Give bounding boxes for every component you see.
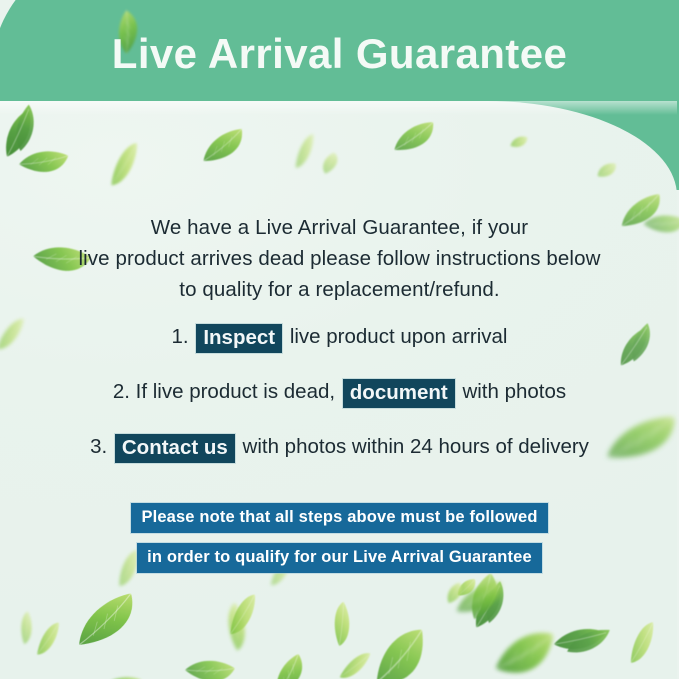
instruction-step-3: 3. Contact us with photos within 24 hour…	[0, 432, 679, 463]
intro-line-3: to quality for a replacement/refund.	[0, 274, 679, 305]
poster-content: Live Arrival Guarantee We have a Live Ar…	[0, 0, 679, 679]
step-3-text: with photos within 24 hours of delivery	[243, 435, 589, 458]
instruction-step-2: 2. If live product is dead, document wit…	[0, 377, 679, 408]
step-3-highlight-contact-us[interactable]: Contact us	[115, 434, 235, 463]
note-box-1: Please note that all steps above must be…	[131, 503, 547, 533]
step-2-number: 2.	[113, 380, 130, 403]
note-row-2: in order to qualify for our Live Arrival…	[0, 543, 679, 573]
instruction-steps-list: 1. Inspect live product upon arrival 2. …	[0, 322, 679, 487]
disclaimer-notes: Please note that all steps above must be…	[0, 503, 679, 583]
step-1-text: live product upon arrival	[290, 325, 508, 348]
step-2-text-before: If live product is dead,	[136, 380, 335, 403]
intro-paragraph: We have a Live Arrival Guarantee, if you…	[0, 212, 679, 305]
intro-line-2: live product arrives dead please follow …	[0, 243, 679, 274]
step-2-highlight-document: document	[343, 379, 455, 408]
instruction-step-1: 1. Inspect live product upon arrival	[0, 322, 679, 353]
step-1-highlight-inspect: Inspect	[196, 324, 282, 353]
step-1-number: 1.	[172, 325, 189, 348]
step-2-text-after: with photos	[462, 380, 566, 403]
page-title: Live Arrival Guarantee	[0, 30, 679, 78]
intro-line-1: We have a Live Arrival Guarantee, if you…	[0, 212, 679, 243]
note-box-2: in order to qualify for our Live Arrival…	[137, 543, 542, 573]
note-row-1: Please note that all steps above must be…	[0, 503, 679, 533]
step-3-number: 3.	[90, 435, 107, 458]
live-arrival-guarantee-poster: Live Arrival Guarantee We have a Live Ar…	[0, 0, 679, 679]
